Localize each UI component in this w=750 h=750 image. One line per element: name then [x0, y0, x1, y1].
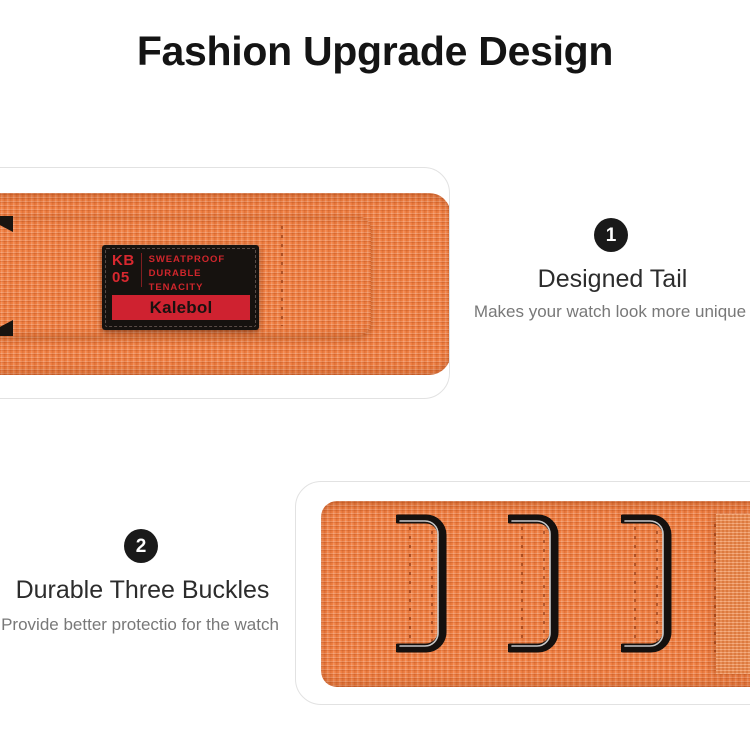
- brand-label-name-bar: Kalebol: [112, 295, 250, 320]
- brand-label-claim-2: DURABLE: [149, 267, 225, 281]
- buckle-loop-2: [508, 512, 560, 655]
- strap-stitch-line: [714, 524, 716, 652]
- brand-label-patch: KB 05 SWEATPROOF DURABLE TENACITY Kalebo…: [102, 245, 259, 330]
- brand-label-claims: SWEATPROOF DURABLE TENACITY: [149, 253, 225, 294]
- feature-badge-2: 2: [124, 529, 158, 563]
- brand-label-top-row: KB 05 SWEATPROOF DURABLE TENACITY: [112, 253, 251, 297]
- buckle-loop-1: [396, 512, 448, 655]
- feature-title-1: Designed Tail: [475, 264, 750, 294]
- page-title: Fashion Upgrade Design: [0, 29, 750, 74]
- feature-description-2: Provide better protectio for the watch: [0, 612, 280, 638]
- brand-name: Kalebol: [150, 298, 213, 318]
- brand-label-code: KB 05: [112, 253, 142, 287]
- strap-overlap-patch: [716, 514, 750, 674]
- strap-stitch-line: [281, 226, 283, 326]
- brand-label-code-line2: 05: [112, 270, 135, 287]
- product-photo-card-designed-tail: KB 05 SWEATPROOF DURABLE TENACITY Kalebo…: [0, 167, 450, 399]
- brand-label-code-line1: KB: [112, 253, 135, 270]
- brand-label-claim-3: TENACITY: [149, 281, 225, 295]
- feature-badge-1: 1: [594, 218, 628, 252]
- brand-label-claim-1: SWEATPROOF: [149, 253, 225, 267]
- feature-title-2: Durable Three Buckles: [5, 575, 280, 605]
- feature-description-1: Makes your watch look more unique: [470, 299, 750, 325]
- product-photo-card-three-buckles: [295, 481, 750, 705]
- buckle-loop-3: [621, 512, 673, 655]
